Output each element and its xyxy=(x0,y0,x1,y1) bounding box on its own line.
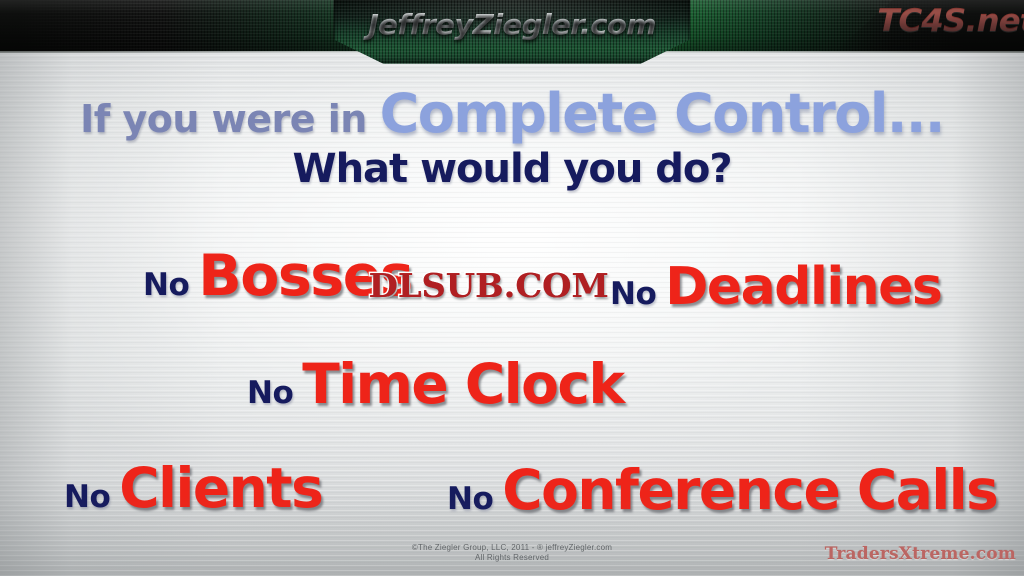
benefit-text: Clients xyxy=(119,456,322,520)
benefit-prefix: No xyxy=(143,267,189,303)
brand-logo[interactable]: JeffreyZiegler.com xyxy=(327,8,697,41)
dlsub-watermark: DLSUB.COM xyxy=(369,266,609,305)
subheadline: What would you do? xyxy=(0,146,1024,192)
headline-lead: If you were in xyxy=(80,97,380,141)
benefit-prefix: No xyxy=(610,276,656,312)
benefit-line-clients: NoClients xyxy=(64,456,322,520)
benefit-prefix: No xyxy=(447,481,493,517)
tc4s-watermark: TC4S.net xyxy=(877,3,1024,39)
benefit-prefix: No xyxy=(64,479,110,515)
benefit-text: Time Clock xyxy=(302,352,623,416)
headline-emphasis: Complete Control... xyxy=(380,82,944,145)
benefit-line-deadlines: NoDeadlines xyxy=(610,257,941,317)
headline: If you were in Complete Control... xyxy=(0,82,1024,145)
benefit-line-time-clock: NoTime Clock xyxy=(247,352,624,416)
presentation-slide: JeffreyZiegler.com TC4S.net If you were … xyxy=(0,0,1024,576)
benefit-line-conference-calls: NoConference Calls xyxy=(447,458,997,522)
tradersxtreme-watermark: TradersXtreme.com xyxy=(825,544,1016,564)
benefit-text: Conference Calls xyxy=(502,458,997,522)
benefit-text: Deadlines xyxy=(665,257,941,317)
benefit-prefix: No xyxy=(247,375,293,411)
